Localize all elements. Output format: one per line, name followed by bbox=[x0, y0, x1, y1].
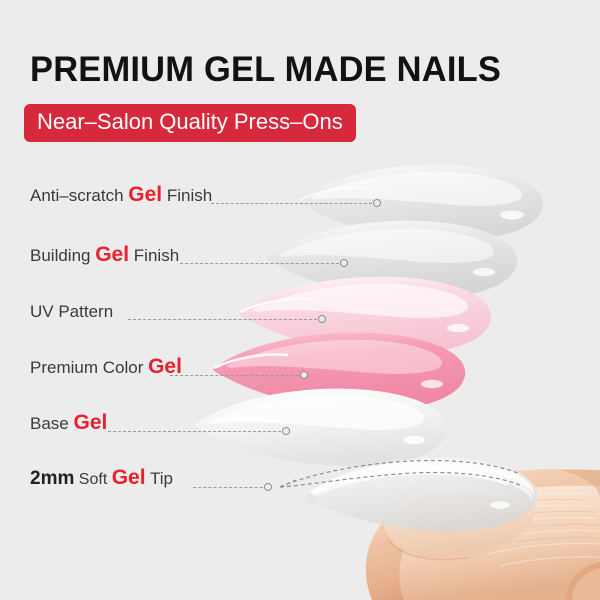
infographic-canvas: PREMIUM GEL MADE NAILS Near–Salon Qualit… bbox=[0, 0, 600, 600]
leader-line-uv-pattern bbox=[128, 319, 322, 321]
label-pre-text: Premium Color bbox=[30, 358, 148, 377]
label-pre-text: Base bbox=[30, 414, 73, 433]
page-title: PREMIUM GEL MADE NAILS bbox=[30, 50, 501, 90]
leader-line-anti-scratch bbox=[211, 203, 377, 205]
subtitle-badge: Near–Salon Quality Press–Ons bbox=[24, 104, 356, 142]
label-post-text: Tip bbox=[146, 469, 173, 488]
callout-label-soft-gel-tip: 2mm Soft Gel Tip bbox=[30, 467, 173, 491]
callout-label-premium-color: Premium Color Gel bbox=[30, 356, 182, 379]
label-small-text: Soft bbox=[74, 471, 111, 488]
layer-soft-gel-tip bbox=[280, 458, 537, 531]
label-accent-gel: Gel bbox=[112, 466, 146, 489]
callout-label-anti-scratch: Anti–scratch Gel Finish bbox=[30, 184, 212, 207]
leader-line-base bbox=[108, 431, 286, 433]
label-bold-measure: 2mm bbox=[30, 468, 74, 489]
leader-line-soft-gel-tip bbox=[193, 487, 268, 489]
callout-label-base: Base Gel bbox=[30, 412, 107, 435]
callout-label-building: Building Gel Finish bbox=[30, 244, 179, 267]
leader-line-premium-color bbox=[170, 375, 304, 377]
layer-base-gel bbox=[195, 389, 447, 467]
label-pre-text: Building bbox=[30, 246, 95, 265]
leader-endpoint-premium-color bbox=[300, 371, 308, 379]
leader-line-building bbox=[180, 263, 344, 265]
label-accent-gel: Gel bbox=[73, 411, 107, 434]
leader-endpoint-building bbox=[340, 259, 348, 267]
label-accent-gel: Gel bbox=[95, 243, 129, 266]
label-pre-text: Anti–scratch bbox=[30, 186, 128, 205]
leader-endpoint-uv-pattern bbox=[318, 315, 326, 323]
label-pre-text: UV Pattern bbox=[30, 302, 113, 321]
leader-endpoint-base bbox=[282, 427, 290, 435]
label-accent-gel: Gel bbox=[128, 183, 162, 206]
leader-endpoint-anti-scratch bbox=[373, 199, 381, 207]
label-post-text: Finish bbox=[129, 246, 179, 265]
label-post-text: Finish bbox=[162, 186, 212, 205]
leader-endpoint-soft-gel-tip bbox=[264, 483, 272, 491]
callout-label-uv-pattern: UV Pattern bbox=[30, 300, 113, 323]
